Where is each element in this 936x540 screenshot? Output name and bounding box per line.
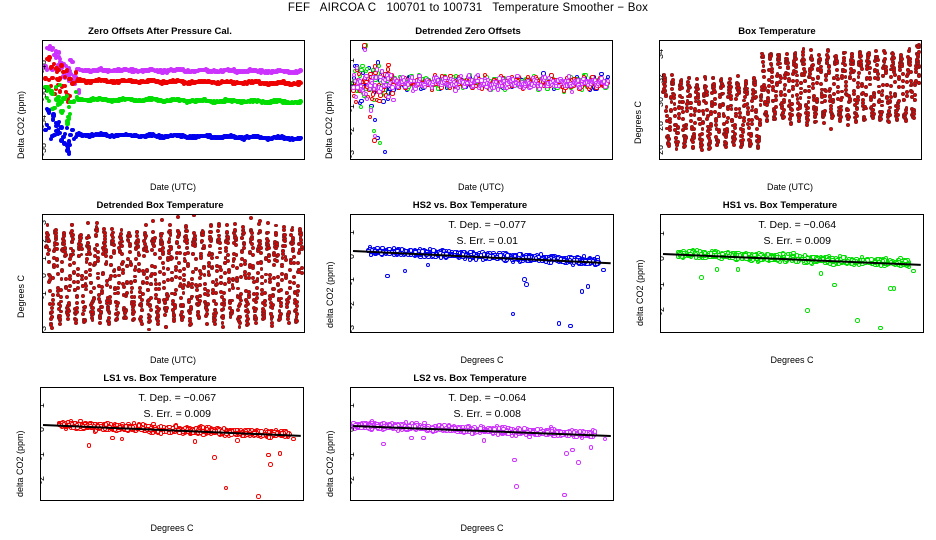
data-point	[83, 319, 87, 323]
data-point	[47, 248, 51, 252]
data-point	[133, 275, 137, 279]
y-tick-label: -46	[42, 60, 48, 73]
data-point	[239, 299, 243, 303]
data-point	[783, 83, 787, 87]
data-point	[192, 214, 196, 217]
data-point	[272, 263, 276, 267]
data-point	[255, 292, 259, 296]
data-point	[515, 74, 519, 78]
data-point	[864, 93, 868, 97]
y-tick-label: 3	[42, 220, 48, 225]
data-point	[815, 106, 819, 110]
data-point	[693, 121, 697, 125]
data-point	[846, 123, 850, 127]
data-point	[81, 300, 85, 304]
data-point	[160, 232, 164, 236]
data-point	[688, 76, 692, 80]
data-point	[355, 66, 359, 70]
data-point	[696, 87, 700, 91]
data-point	[59, 125, 63, 129]
data-point	[844, 84, 848, 88]
data-point	[701, 127, 705, 131]
y-tick-label: 32	[659, 73, 665, 83]
data-point	[59, 304, 63, 308]
data-point	[54, 228, 58, 232]
data-point	[58, 322, 62, 326]
x-tick-mark	[905, 159, 906, 160]
data-point	[766, 98, 770, 102]
data-point	[785, 52, 789, 56]
data-point	[274, 231, 278, 235]
data-point	[112, 243, 116, 247]
data-point	[157, 298, 161, 302]
data-point	[725, 127, 729, 131]
data-point	[298, 81, 302, 85]
data-point	[365, 97, 369, 101]
data-point	[280, 278, 284, 282]
data-point	[704, 77, 708, 81]
data-point	[67, 309, 71, 313]
y-tick-label: 2	[42, 238, 48, 243]
data-point	[249, 216, 253, 220]
data-point	[292, 255, 296, 259]
data-point	[834, 54, 838, 58]
data-point	[883, 57, 887, 61]
data-point	[84, 276, 88, 280]
data-point	[383, 150, 387, 154]
data-point	[827, 71, 831, 75]
data-point	[828, 87, 832, 91]
data-point	[668, 120, 672, 124]
data-point	[175, 256, 179, 260]
data-point	[876, 77, 880, 81]
data-point	[233, 222, 237, 226]
y-tick-label: 0	[42, 273, 48, 278]
panel-title: Detrended Zero Offsets	[320, 26, 616, 37]
data-point	[705, 93, 709, 97]
data-point	[790, 102, 794, 106]
data-point	[857, 75, 861, 79]
data-point	[120, 244, 124, 248]
data-point	[194, 242, 198, 246]
data-point	[839, 115, 843, 119]
data-point	[505, 86, 509, 90]
data-point	[235, 266, 239, 270]
data-point	[295, 300, 299, 304]
data-point	[246, 310, 250, 314]
data-point	[225, 223, 229, 227]
data-point	[767, 90, 771, 94]
data-point	[292, 241, 296, 245]
panel-detrended-box-temperature: Detrended Box Temperature Degrees C Jun …	[12, 200, 308, 372]
data-point	[291, 247, 295, 251]
data-point	[916, 45, 920, 49]
data-point	[895, 117, 899, 121]
data-point	[267, 259, 271, 263]
data-point	[65, 148, 69, 152]
data-point	[754, 108, 758, 112]
data-point	[50, 310, 54, 314]
data-point	[182, 273, 186, 277]
data-point	[864, 107, 868, 111]
data-point	[797, 119, 801, 123]
data-point	[190, 295, 194, 299]
data-point	[169, 233, 173, 237]
data-point	[688, 86, 692, 90]
data-point	[70, 229, 74, 233]
data-point	[880, 100, 884, 104]
y-tick-label: 26	[659, 145, 665, 155]
data-point	[375, 67, 379, 71]
plot-page: FEF AIRCOA C 100701 to 100731 Temperatur…	[0, 0, 936, 540]
data-point	[835, 59, 839, 63]
data-point	[91, 318, 95, 322]
data-point	[222, 291, 226, 295]
x-tick-mark	[660, 159, 661, 160]
data-point	[258, 219, 262, 223]
data-point	[247, 295, 251, 299]
data-point	[215, 256, 219, 260]
data-point	[786, 72, 790, 76]
data-point	[782, 108, 786, 112]
data-point	[199, 272, 203, 276]
data-point	[365, 67, 369, 71]
y-tick-label: -1	[350, 104, 356, 112]
page-title: FEF AIRCOA C 100701 to 100731 Temperatur…	[0, 2, 936, 14]
data-point	[300, 245, 304, 249]
data-point	[670, 73, 674, 77]
data-point	[128, 250, 132, 254]
data-point	[163, 300, 167, 304]
data-point	[713, 90, 717, 94]
data-point	[251, 253, 255, 257]
data-point	[103, 240, 107, 244]
data-point	[107, 322, 111, 326]
data-point	[89, 290, 93, 294]
data-point	[883, 51, 887, 55]
data-point	[295, 319, 299, 323]
data-point	[875, 63, 879, 67]
data-point	[75, 310, 79, 314]
data-point	[867, 53, 871, 57]
data-point	[730, 107, 734, 111]
data-point	[900, 65, 904, 69]
data-point	[168, 223, 172, 227]
data-point	[199, 256, 203, 260]
data-point	[704, 101, 708, 105]
data-point	[201, 233, 205, 237]
data-point	[95, 229, 99, 233]
data-point	[456, 86, 460, 90]
x-tick-mark	[165, 332, 166, 333]
y-tick-label: -1	[42, 291, 48, 299]
data-point	[901, 85, 905, 89]
data-point	[121, 260, 125, 264]
data-point	[691, 145, 695, 149]
data-point	[70, 223, 74, 227]
data-point	[254, 300, 258, 304]
data-point	[868, 71, 872, 75]
x-tick-mark	[247, 159, 248, 160]
data-point	[173, 303, 177, 307]
data-point	[683, 144, 687, 148]
data-point	[264, 279, 268, 283]
data-point	[904, 111, 908, 115]
data-point	[734, 97, 738, 101]
data-point	[166, 267, 170, 271]
data-point	[664, 109, 668, 113]
data-point	[912, 116, 916, 120]
data-point	[736, 74, 740, 78]
data-point	[116, 301, 120, 305]
data-point	[67, 139, 71, 143]
data-point	[783, 87, 787, 91]
data-point	[852, 69, 856, 73]
data-point	[902, 98, 906, 102]
data-point	[181, 286, 185, 290]
data-point	[230, 299, 234, 303]
data-point	[789, 122, 793, 126]
data-point	[275, 259, 279, 263]
data-point	[104, 250, 108, 254]
data-point	[271, 303, 275, 307]
data-point	[96, 272, 100, 276]
data-point	[811, 82, 815, 86]
data-point	[889, 95, 893, 99]
data-point	[774, 105, 778, 109]
data-point	[218, 251, 222, 255]
data-point	[55, 242, 59, 246]
data-point	[59, 310, 63, 314]
data-point	[86, 221, 90, 225]
data-point	[178, 251, 182, 255]
data-point	[260, 267, 264, 271]
data-point	[770, 75, 774, 79]
data-point	[467, 73, 471, 77]
data-point	[819, 82, 823, 86]
data-point	[867, 61, 871, 65]
data-point	[182, 283, 186, 287]
data-point	[810, 67, 814, 71]
data-point	[892, 56, 896, 60]
data-point	[363, 48, 367, 52]
data-point	[779, 76, 783, 80]
data-point	[161, 261, 165, 265]
data-point	[65, 295, 69, 299]
y-tick-label: 1	[42, 256, 48, 261]
data-point	[95, 243, 99, 247]
panel-title: Box Temperature	[629, 26, 925, 37]
data-point	[807, 89, 811, 93]
data-point	[267, 254, 271, 258]
data-point	[279, 304, 283, 308]
data-point	[786, 61, 790, 65]
data-point	[63, 132, 67, 136]
data-point	[162, 286, 166, 290]
data-point	[373, 118, 377, 122]
data-point	[386, 67, 390, 71]
data-point	[267, 246, 271, 250]
data-point	[100, 291, 104, 295]
data-point	[806, 111, 810, 115]
data-point	[782, 115, 786, 119]
x-tick-mark	[206, 332, 207, 333]
data-point	[214, 302, 218, 306]
data-point	[296, 284, 300, 288]
x-tick-mark	[701, 159, 702, 160]
y-tick-label: 30	[659, 97, 665, 107]
data-point	[247, 290, 251, 294]
data-point	[299, 233, 303, 237]
data-point	[226, 259, 230, 263]
data-point	[283, 244, 287, 248]
data-point	[712, 76, 716, 80]
data-point	[136, 238, 140, 242]
data-point	[67, 105, 71, 109]
data-point	[230, 309, 234, 313]
data-point	[721, 84, 725, 88]
data-point	[271, 294, 275, 298]
data-point	[226, 241, 230, 245]
data-point	[75, 301, 79, 305]
y-axis-label: Delta CO2 (ppm)	[16, 91, 26, 159]
data-point	[96, 276, 100, 280]
data-point	[145, 268, 149, 272]
data-point	[79, 236, 83, 240]
data-point	[816, 75, 820, 79]
data-point	[170, 271, 174, 275]
data-point	[48, 289, 52, 293]
data-point	[140, 322, 144, 326]
data-point	[154, 278, 158, 282]
data-point	[140, 298, 144, 302]
data-point	[74, 70, 78, 74]
data-point	[360, 64, 364, 68]
data-point	[284, 258, 288, 262]
data-point	[121, 271, 125, 275]
data-point	[824, 78, 828, 82]
data-point	[846, 108, 850, 112]
data-point	[888, 106, 892, 110]
data-point	[256, 271, 260, 275]
data-point	[381, 99, 385, 103]
data-point	[794, 57, 798, 61]
data-point	[665, 105, 669, 109]
data-point	[291, 226, 295, 230]
data-point	[177, 245, 181, 249]
data-point	[177, 261, 181, 265]
data-point	[908, 63, 912, 67]
data-point	[166, 294, 170, 298]
data-point	[286, 300, 290, 304]
x-axis-label: Date (UTC)	[458, 182, 504, 192]
data-point	[259, 246, 263, 250]
data-point	[300, 271, 304, 275]
data-point	[750, 99, 754, 103]
data-point	[893, 73, 897, 77]
data-point	[859, 54, 863, 58]
data-point	[809, 48, 813, 52]
data-point	[216, 229, 220, 233]
data-point	[298, 68, 302, 72]
data-point	[94, 233, 98, 237]
data-point	[843, 69, 847, 73]
data-point	[762, 69, 766, 73]
data-point	[876, 58, 880, 62]
data-point	[218, 241, 222, 245]
y-tick-label: -2	[350, 127, 356, 135]
data-point	[292, 275, 296, 279]
data-point	[206, 293, 210, 297]
data-point	[893, 80, 897, 84]
data-point	[831, 114, 835, 118]
data-point	[125, 291, 129, 295]
x-tick-mark	[288, 159, 289, 160]
data-point	[676, 131, 680, 135]
data-point	[74, 135, 78, 139]
data-point	[238, 315, 242, 319]
data-point	[63, 84, 67, 88]
data-point	[868, 77, 872, 81]
data-point	[170, 278, 174, 282]
data-point	[778, 62, 782, 66]
data-point	[799, 87, 803, 91]
data-point	[673, 107, 677, 111]
data-point	[250, 242, 254, 246]
data-point	[266, 231, 270, 235]
data-point	[71, 253, 75, 257]
data-point	[709, 128, 713, 132]
data-point	[214, 311, 218, 315]
data-point	[713, 102, 717, 106]
data-point	[901, 72, 905, 76]
data-point	[863, 118, 867, 122]
data-point	[680, 86, 684, 90]
data-point	[153, 236, 157, 240]
data-point	[76, 280, 80, 284]
data-point	[378, 93, 382, 97]
data-point	[884, 71, 888, 75]
data-point	[880, 110, 884, 114]
data-point	[108, 311, 112, 315]
x-tick-mark	[782, 159, 783, 160]
data-point	[51, 298, 55, 302]
data-point	[242, 231, 246, 235]
x-tick-mark	[596, 159, 597, 160]
x-tick-mark	[864, 159, 865, 160]
data-point	[67, 289, 71, 293]
data-point	[162, 272, 166, 276]
data-point	[732, 143, 736, 147]
data-point	[263, 291, 267, 295]
data-point	[58, 83, 62, 87]
data-point	[205, 322, 209, 326]
data-point	[165, 306, 169, 310]
data-point	[852, 78, 856, 82]
data-point	[888, 99, 892, 103]
data-point	[700, 138, 704, 142]
data-point	[390, 91, 394, 95]
data-point	[832, 92, 836, 96]
data-point	[259, 251, 263, 255]
data-point	[606, 79, 610, 83]
data-point	[120, 240, 124, 244]
data-point	[681, 100, 685, 104]
data-point	[98, 300, 102, 304]
data-point	[221, 314, 225, 318]
data-point	[786, 67, 790, 71]
data-point	[218, 247, 222, 251]
